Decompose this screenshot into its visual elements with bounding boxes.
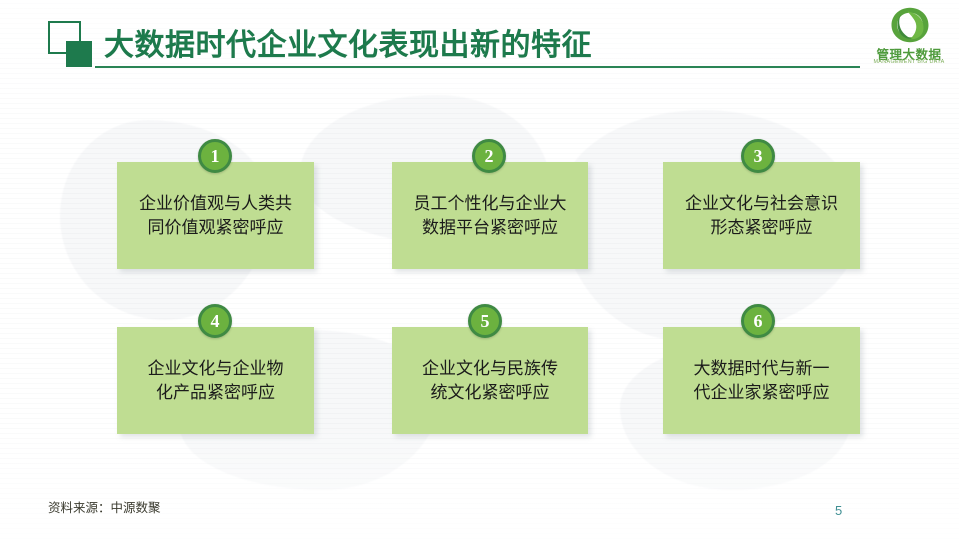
feature-card-5[interactable]: 企业文化与民族传 统文化紧密呼应 xyxy=(392,327,588,434)
feature-card-badge-1: 1 xyxy=(198,139,232,173)
feature-cards-grid: 企业价值观与人类共 同价值观紧密呼应 1 员工个性化与企业大 数据平台紧密呼应 … xyxy=(0,0,959,539)
feature-card-2[interactable]: 员工个性化与企业大 数据平台紧密呼应 xyxy=(392,162,588,269)
feature-card-4[interactable]: 企业文化与企业物 化产品紧密呼应 xyxy=(117,327,314,434)
feature-card-badge-5: 5 xyxy=(468,304,502,338)
feature-card-text: 企业文化与企业物 化产品紧密呼应 xyxy=(125,356,306,404)
feature-card-6[interactable]: 大数据时代与新一 代企业家紧密呼应 xyxy=(663,327,860,434)
feature-card-badge-3: 3 xyxy=(741,139,775,173)
feature-card-text: 企业价值观与人类共 同价值观紧密呼应 xyxy=(125,191,306,239)
feature-card-text: 企业文化与民族传 统文化紧密呼应 xyxy=(400,356,580,404)
feature-card-badge-4: 4 xyxy=(198,304,232,338)
page-number: 5 xyxy=(835,503,842,518)
feature-card-text: 员工个性化与企业大 数据平台紧密呼应 xyxy=(400,191,580,239)
feature-card-text: 企业文化与社会意识 形态紧密呼应 xyxy=(671,191,852,239)
feature-card-badge-6: 6 xyxy=(741,304,775,338)
feature-card-badge-2: 2 xyxy=(472,139,506,173)
feature-card-3[interactable]: 企业文化与社会意识 形态紧密呼应 xyxy=(663,162,860,269)
feature-card-text: 大数据时代与新一 代企业家紧密呼应 xyxy=(671,356,852,404)
feature-card-1[interactable]: 企业价值观与人类共 同价值观紧密呼应 xyxy=(117,162,314,269)
source-note: 资料来源：中源数聚 xyxy=(48,497,161,516)
